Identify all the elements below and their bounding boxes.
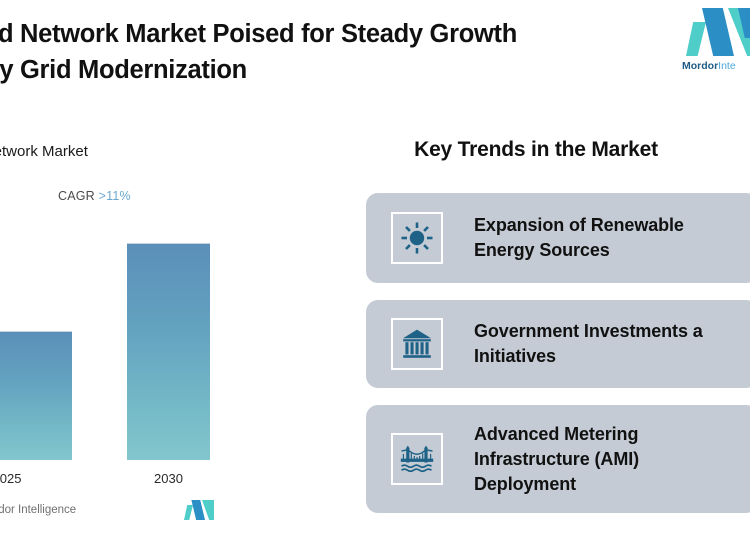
- mordor-intelligence-logo: MordorInte: [686, 8, 750, 80]
- chart-source-label: : Mordor Intelligence: [0, 504, 76, 516]
- trend-card-government-investments[interactable]: Government Investments a Initiatives: [366, 300, 750, 388]
- trend-card-label: Government Investments a Initiatives: [474, 319, 750, 369]
- trend-card-ami-deployment[interactable]: Advanced Metering Infrastructure (AMI) D…: [366, 405, 750, 513]
- trends-heading: Key Trends in the Market: [358, 138, 714, 162]
- brand-wordmark-secondary: Inte: [718, 60, 736, 72]
- bar-label-2025: 2025: [0, 471, 72, 486]
- market-size-chart-panel: t Grid Network Market Size CAGR >11% 202…: [0, 130, 340, 536]
- bar-label-2030: 2030: [127, 471, 210, 486]
- trend-card-label: Advanced Metering Infrastructure (AMI) D…: [474, 422, 750, 497]
- page-title: Grid Network Market Poised for Steady Gr…: [0, 16, 662, 88]
- brand-wordmark-primary: Mordor: [682, 60, 718, 72]
- sun-icon: [391, 212, 443, 264]
- key-trends-panel: Key Trends in the Market Expansion of Re…: [358, 130, 750, 536]
- trend-card-renewable-energy[interactable]: Expansion of Renewable Energy Sources: [366, 193, 750, 283]
- mordor-m-logo-icon: [686, 8, 750, 56]
- trend-card-label: Expansion of Renewable Energy Sources: [474, 213, 750, 263]
- page-header: Grid Network Market Poised for Steady Gr…: [0, 0, 750, 110]
- brand-wordmark: MordorInte: [682, 60, 736, 72]
- bridge-icon: [391, 433, 443, 485]
- bank-icon: [391, 318, 443, 370]
- chart-source-logo-icon: [184, 500, 214, 520]
- bar-2025: [0, 331, 72, 460]
- bar-2030: [127, 243, 210, 460]
- bar-chart-plot-area: 2025 2030: [0, 130, 340, 536]
